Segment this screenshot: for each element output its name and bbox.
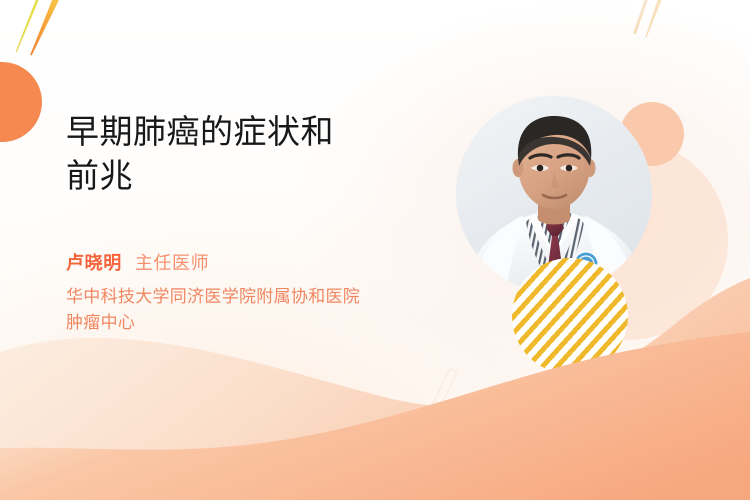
- doctor-affiliation: 华中科技大学同济医学院附属协和医院 肿瘤中心: [66, 284, 466, 336]
- doctor-title: 主任医师: [135, 249, 209, 275]
- doctor-byline: 卢晓明 主任医师: [66, 249, 466, 275]
- doctor-video-card: 协 早期肺癌的症状和 前兆 卢: [0, 0, 750, 500]
- doctor-name: 卢晓明: [66, 249, 122, 275]
- affiliation-line-1: 华中科技大学同济医学院附属协和医院: [66, 284, 466, 310]
- page-title: 早期肺癌的症状和 前兆: [66, 110, 466, 197]
- affiliation-line-2: 肿瘤中心: [66, 310, 466, 336]
- text-block: 早期肺癌的症状和 前兆 卢晓明 主任医师 华中科技大学同济医学院附属协和医院 肿…: [66, 110, 466, 336]
